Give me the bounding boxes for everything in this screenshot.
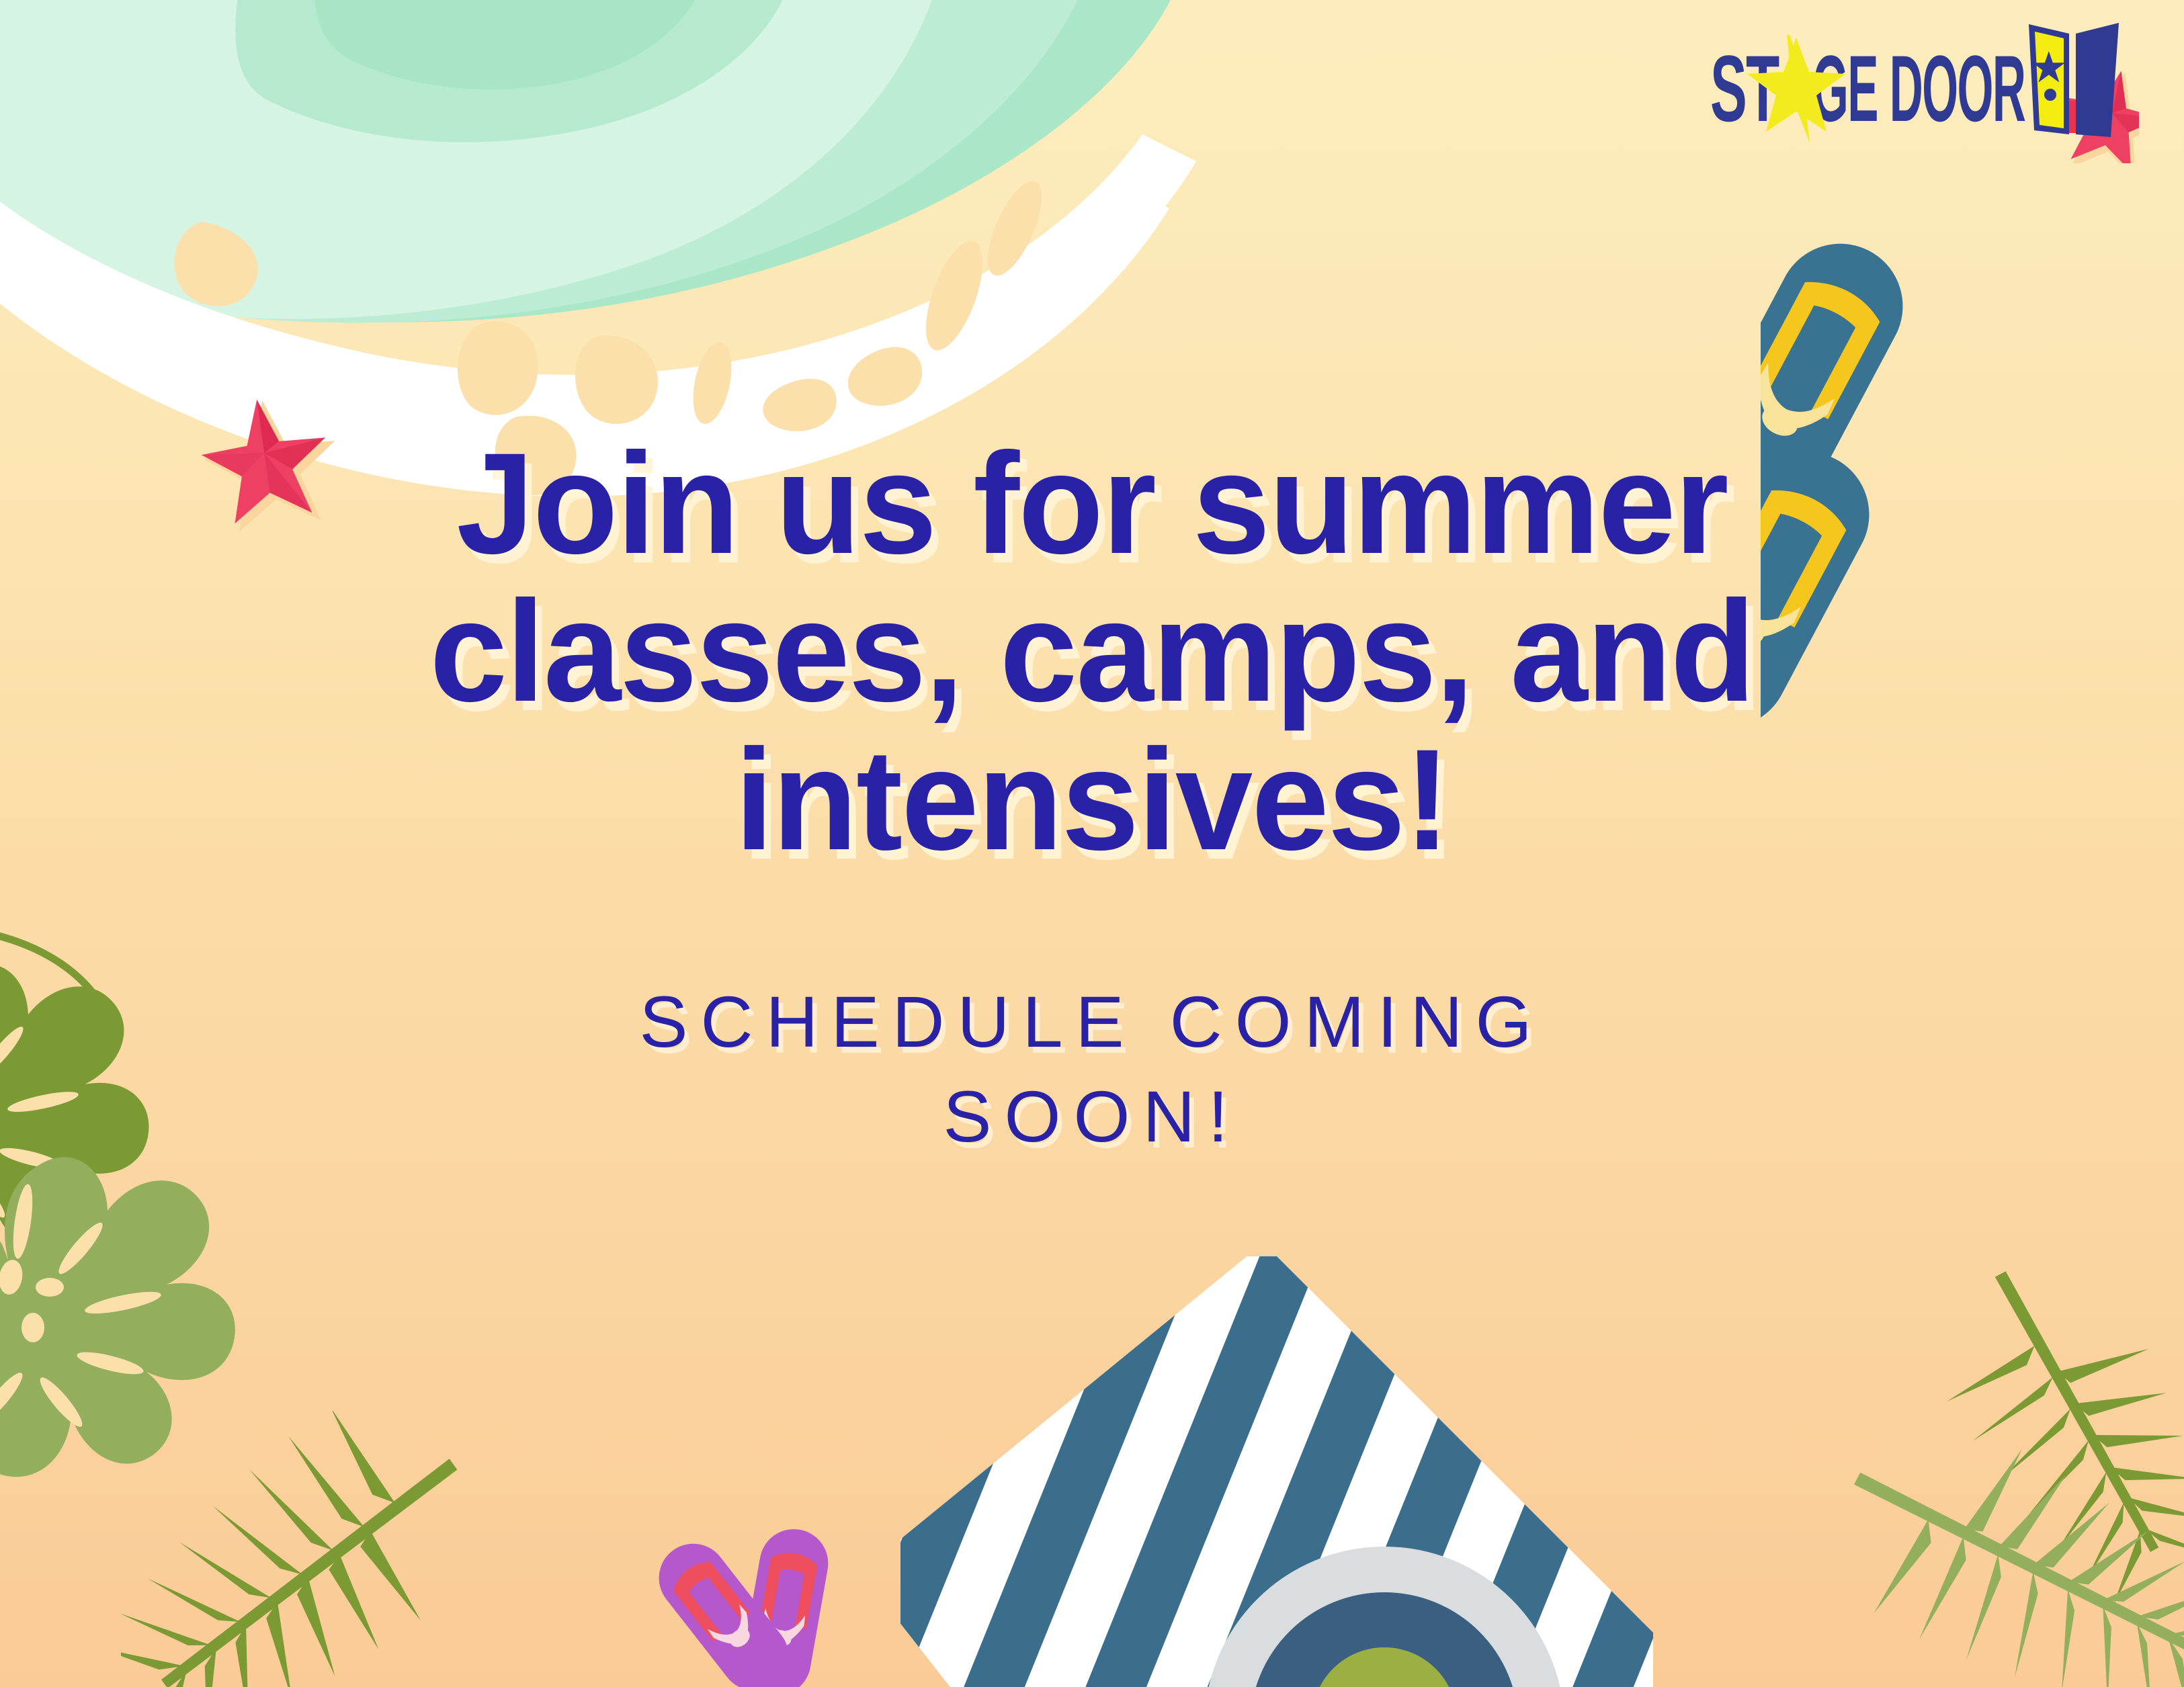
palm-frond — [1720, 1236, 2184, 1687]
starfish-icon — [181, 375, 349, 543]
brand-wordmark: ST GE DOOR — [1710, 35, 2066, 142]
poster-canvas: Join us for summer classes, camps, and i… — [0, 0, 2184, 1687]
striped-beach-towel — [900, 1256, 1653, 1687]
flip-flops-purple — [625, 1485, 907, 1687]
svg-text:GE DOOR: GE DOOR — [1812, 36, 2025, 141]
brand-logo: ST GE DOOR — [1710, 13, 2181, 168]
door-knob-icon — [2044, 89, 2056, 101]
stage-door-icon — [2025, 19, 2139, 163]
flip-flops-blue — [1761, 208, 2184, 719]
